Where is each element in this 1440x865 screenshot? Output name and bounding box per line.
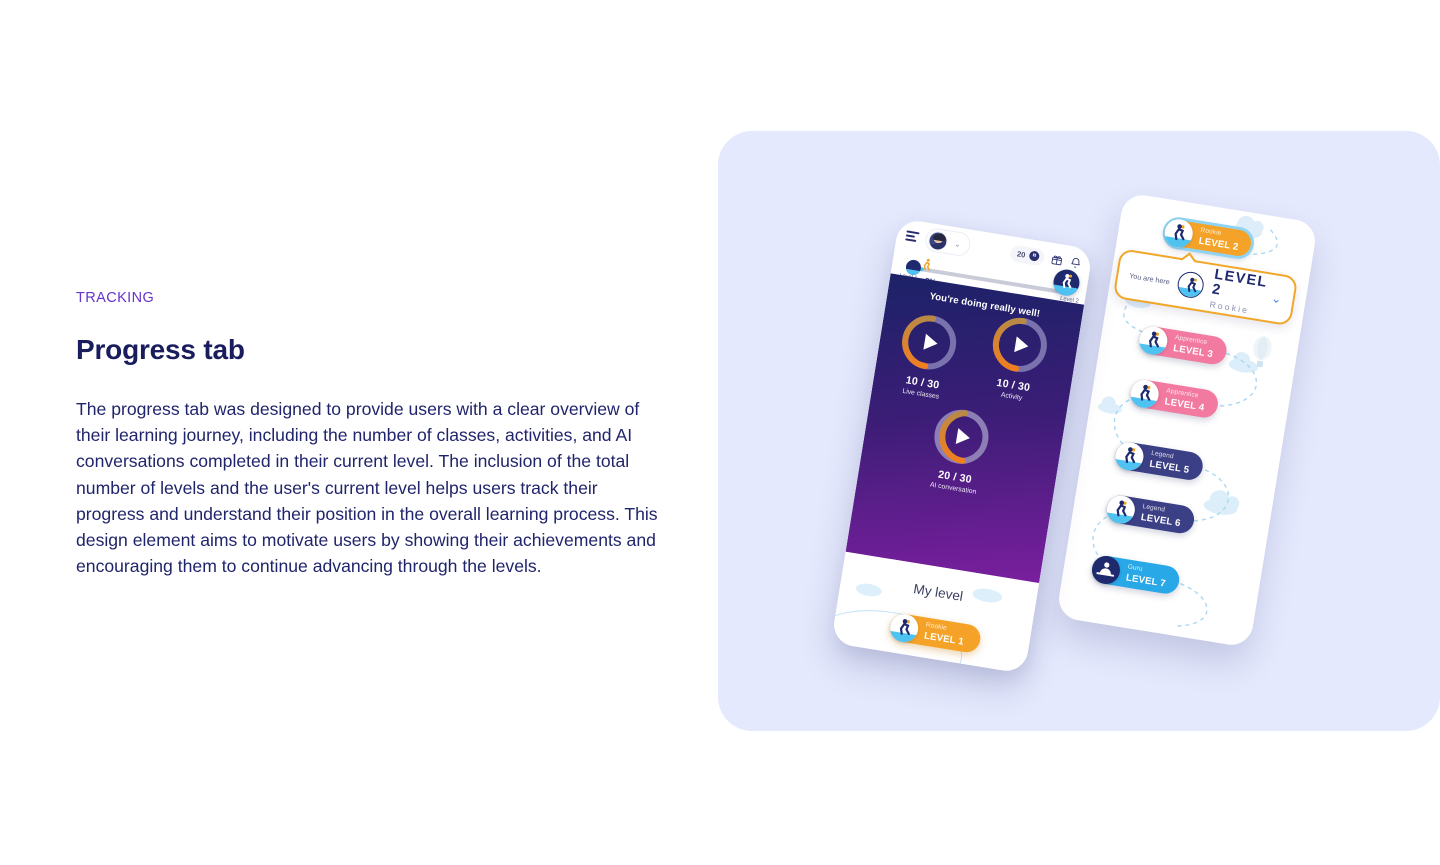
coin-balance[interactable]: 20 ¤	[1009, 244, 1046, 266]
play-icon	[956, 428, 971, 446]
level-avatar-icon	[1137, 325, 1169, 357]
callout-pointer	[1180, 251, 1199, 263]
level-avatar-icon	[888, 612, 920, 644]
level-pill-text: Apprentice LEVEL 4	[1164, 388, 1207, 412]
chevron-down-icon[interactable]: ⌄	[1270, 291, 1282, 306]
level-pill-text: Apprentice LEVEL 3	[1173, 335, 1216, 359]
guru-meditate-icon	[1090, 554, 1122, 586]
level-avatar-icon	[1105, 494, 1137, 526]
ring-live-classes[interactable]: 10 / 30 Live classes	[882, 308, 973, 404]
ring-activity[interactable]: 10 / 30 Activity	[972, 310, 1063, 406]
play-icon	[1014, 336, 1029, 354]
level-avatar-icon	[1129, 378, 1161, 410]
you-are-here-label: You are here	[1129, 270, 1171, 285]
progress-ring	[896, 309, 963, 376]
level-pill-text: Guru LEVEL 7	[1125, 564, 1168, 588]
level-pill-text: Rookie LEVEL 2	[1198, 228, 1241, 252]
ring-ai-conversation[interactable]: 20 / 30 AI conversation	[914, 402, 1005, 498]
chevron-down-icon[interactable]: ⌄	[954, 239, 962, 249]
progress-ring	[928, 404, 995, 471]
bell-icon[interactable]	[1069, 256, 1083, 270]
hamburger-icon[interactable]	[905, 231, 919, 243]
phone-progress-mockup: ⌄ 20 ¤	[831, 218, 1093, 674]
level-pill-text: Legend LEVEL 6	[1140, 504, 1183, 528]
level-pill-text: Rookie LEVEL 1	[923, 622, 966, 646]
eyebrow-label: TRACKING	[76, 288, 676, 308]
level-pill-text: Legend LEVEL 5	[1149, 451, 1192, 475]
progress-rings: 10 / 30 Live classes	[855, 306, 1079, 525]
level-2-marker-icon[interactable]	[1052, 268, 1082, 298]
page-title: Progress tab	[76, 334, 676, 366]
play-icon	[923, 334, 938, 352]
level-avatar-icon	[1163, 217, 1195, 249]
showcase-panel: Rookie LEVEL 2 You are here LEVEL	[718, 131, 1440, 731]
level-avatar-icon	[1113, 440, 1145, 472]
coin-count: 20	[1016, 249, 1026, 259]
body-paragraph: The progress tab was designed to provide…	[76, 396, 662, 579]
text-column: TRACKING Progress tab The progress tab w…	[76, 288, 676, 579]
coin-icon: ¤	[1029, 250, 1040, 261]
you-are-here-main: LEVEL 2 Rookie	[1209, 268, 1275, 319]
page-root: TRACKING Progress tab The progress tab w…	[0, 0, 1440, 865]
gift-icon[interactable]	[1050, 253, 1064, 267]
phone-levels-mockup: Rookie LEVEL 2 You are here LEVEL	[1056, 192, 1318, 648]
progress-ring	[987, 312, 1054, 379]
avatar	[927, 230, 949, 252]
you-are-here-avatar-icon	[1176, 270, 1206, 300]
